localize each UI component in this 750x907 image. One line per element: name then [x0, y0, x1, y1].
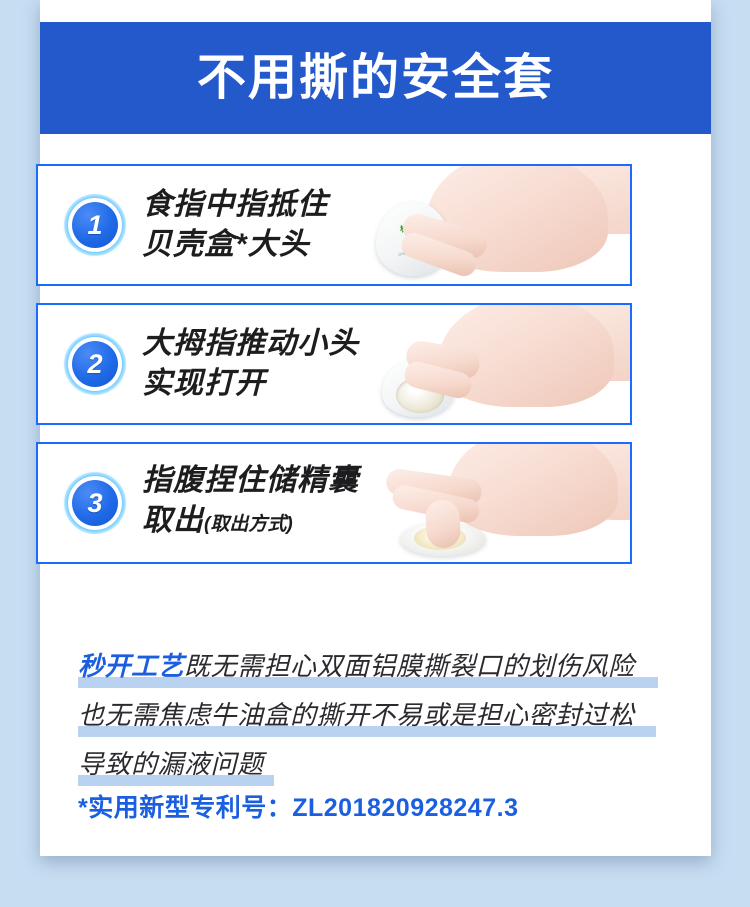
step-number-1: 1 — [87, 212, 102, 239]
step-line-1a: 食指中指抵住 — [142, 185, 328, 225]
paragraph-line-2: 也无需焦虑牛油盒的撕开不易或是担心密封过松 — [78, 691, 678, 740]
step-note-3: (取出方式) — [204, 514, 293, 535]
step-badge-3: 3 — [64, 472, 126, 534]
step-text-1: 食指中指抵住 贝壳盒*大头 — [142, 185, 328, 265]
badge-circle-icon: 2 — [72, 341, 118, 387]
paragraph-line-3-text: 导致的漏液问题 — [78, 749, 264, 779]
index-finger-shape — [424, 499, 461, 549]
step-line-2a: 大拇指推动小头 — [142, 324, 359, 364]
badge-circle-icon: 3 — [72, 480, 118, 526]
paragraph-line-1-rest: 既无需担心双面铝膜撕裂口的划伤风险 — [184, 651, 635, 681]
header-banner: 不用撕的安全套 — [40, 22, 711, 134]
step-card-1[interactable]: 1 食指中指抵住 贝壳盒*大头 杜蕾 SHELL BOX — [36, 164, 632, 286]
step-badge-1: 1 — [64, 194, 126, 256]
description-paragraph: 秒开工艺既无需担心双面铝膜撕裂口的划伤风险 也无需焦虑牛油盒的撕开不易或是担心密… — [78, 642, 678, 789]
step-text-2: 大拇指推动小头 实现打开 — [142, 324, 359, 404]
step-number-2: 2 — [87, 351, 102, 378]
step-photo-2 — [330, 305, 630, 423]
paragraph-lead: 秒开工艺 — [78, 651, 184, 681]
step-photo-1: 杜蕾 SHELL BOX — [330, 166, 630, 284]
step-card-3[interactable]: 3 指腹捏住储精囊 取出(取出方式) — [36, 442, 632, 564]
step-line-3a: 指腹捏住储精囊 — [142, 461, 359, 501]
watermark-text — [70, 862, 390, 902]
paragraph-line-1: 秒开工艺既无需担心双面铝膜撕裂口的划伤风险 — [78, 642, 678, 691]
paragraph-line-2-text: 也无需焦虑牛油盒的撕开不易或是担心密封过松 — [78, 700, 635, 730]
step-card-2[interactable]: 2 大拇指推动小头 实现打开 — [36, 303, 632, 425]
badge-circle-icon: 1 — [72, 202, 118, 248]
step-text-3: 指腹捏住储精囊 取出(取出方式) — [142, 461, 359, 545]
step-line-3b-main: 取出 — [142, 504, 204, 537]
steps-list: 1 食指中指抵住 贝壳盒*大头 杜蕾 SHELL BOX 2 大拇指推动小头 — [36, 164, 636, 581]
step-line-2b: 实现打开 — [142, 364, 359, 404]
step-number-3: 3 — [87, 490, 102, 517]
patent-number: *实用新型专利号：ZL201820928247.3 — [78, 788, 518, 824]
step-line-1b: 贝壳盒*大头 — [142, 225, 328, 265]
paragraph-line-3: 导致的漏液问题 — [78, 740, 678, 789]
step-badge-2: 2 — [64, 333, 126, 395]
step-photo-3 — [330, 444, 630, 562]
step-line-3b: 取出(取出方式) — [142, 501, 359, 545]
page-title: 不用撕的安全套 — [197, 54, 554, 103]
